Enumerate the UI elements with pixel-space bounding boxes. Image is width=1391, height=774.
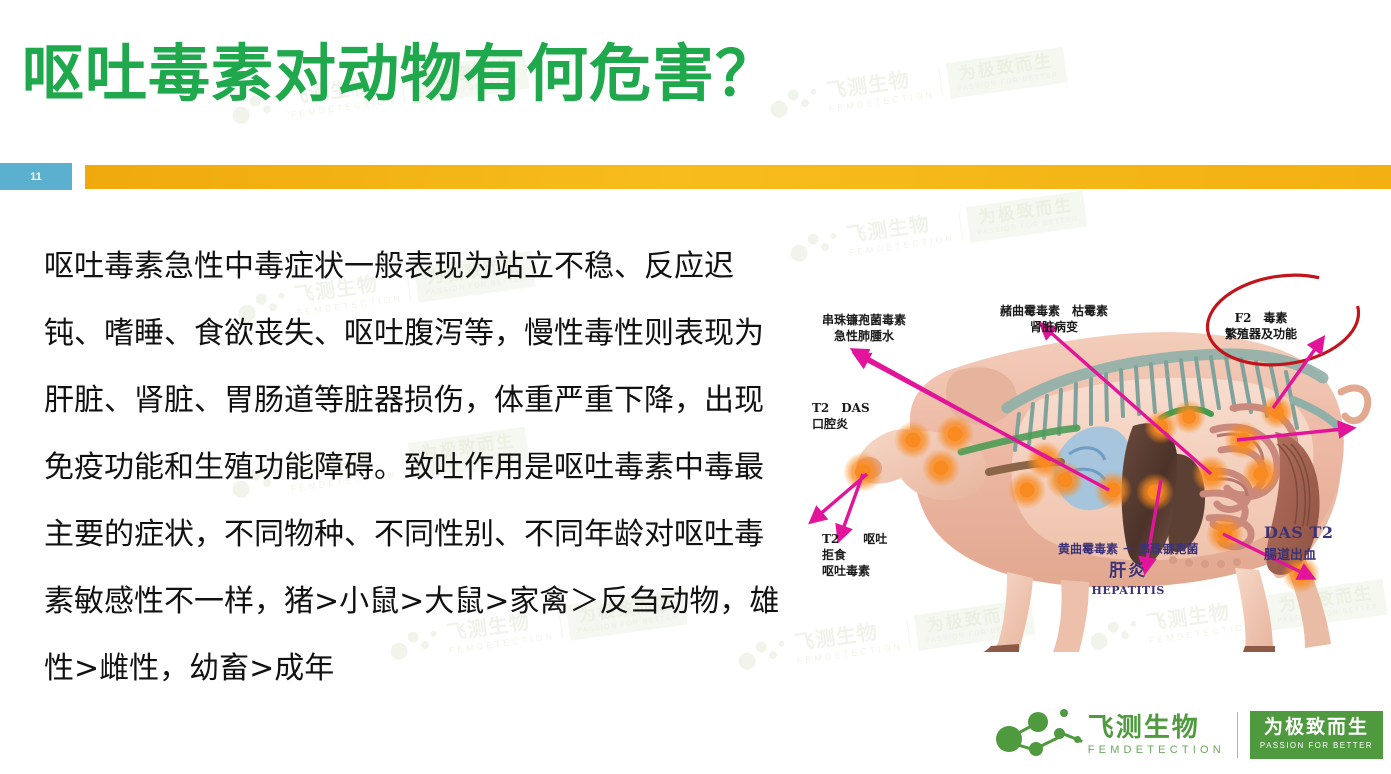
label-reproductive: F2 毒素 繁殖器及功能 (1225, 310, 1297, 342)
label-f2-toxin: F2 毒素 (1235, 311, 1288, 325)
label-mouth-effect: 口腔炎 (812, 416, 870, 432)
brand-slogan-cn: 为极致而生 (1264, 718, 1369, 738)
brand-name-cn: 飞测生物 (1088, 714, 1225, 741)
brand-divider (1237, 712, 1238, 758)
label-liver-toxin: 黄曲霉毒素 － 串珠镰孢菌 (1058, 542, 1198, 556)
label-kidney: 赭曲霉毒素 枯霉素 肾脏病变 (1000, 303, 1108, 335)
brand-slogan-box: 为极致而生 PASSION FOR BETTER (1250, 711, 1383, 759)
label-lung-toxin: 串珠镰孢菌毒素 (822, 313, 906, 327)
body-paragraph: 呕吐毒素急性中毒症状一般表现为站立不稳、反应迟钝、嗜睡、食欲丧失、呕吐腹泻等，慢… (44, 233, 784, 702)
label-gut-toxin: DAS T2 (1264, 522, 1333, 544)
label-liver-effect: 肝炎 (1058, 560, 1198, 583)
accent-bar (85, 165, 1391, 189)
label-f2-effect: 繁殖器及功能 (1225, 326, 1297, 342)
brand-name-en: FEMDETECTION (1088, 744, 1225, 756)
page-number-badge: 11 (0, 163, 72, 190)
label-vomit-name: 呕吐毒素 (822, 563, 887, 579)
label-gut-effect: 腸道出血 (1264, 547, 1333, 565)
page-title: 呕吐毒素对动物有何危害？ (22, 44, 778, 106)
label-kidney-effect: 肾脏病变 (1000, 319, 1108, 335)
label-liver-effect-en: HEPATITIS (1058, 584, 1198, 599)
label-vomit-effect: 拒食 (822, 547, 887, 563)
label-lung-effect: 急性肺腫水 (822, 328, 906, 344)
label-lung: 串珠镰孢菌毒素 急性肺腫水 (822, 312, 906, 344)
molecule-icon (994, 706, 1090, 764)
label-vomit-toxin: T2 呕吐 (822, 532, 887, 546)
watermark-1: 飞测生物FEMDETECTION为极致而生PASSION FOR BETTER (767, 47, 1067, 124)
label-mouth-toxin: T2 DAS (812, 401, 870, 415)
label-liver: 黄曲霉毒素 － 串珠镰孢菌 肝炎 HEPATITIS (1058, 537, 1198, 598)
label-kidney-toxin: 赭曲霉毒素 枯霉素 (1000, 304, 1108, 318)
brand-slogan-en: PASSION FOR BETTER (1260, 742, 1373, 751)
label-gut: DAS T2 腸道出血 (1264, 522, 1333, 564)
brand-logo: 飞测生物 FEMDETECTION 为极致而生 PASSION FOR BETT… (994, 704, 1383, 766)
label-vomit: T2 呕吐 拒食 呕吐毒素 (822, 531, 887, 580)
body-text: 呕吐毒素急性中毒症状一般表现为站立不稳、反应迟钝、嗜睡、食欲丧失、呕吐腹泻等，慢… (44, 233, 784, 702)
brand-text: 飞测生物 FEMDETECTION (1088, 714, 1225, 756)
label-mouth: T2 DAS 口腔炎 (812, 400, 870, 432)
